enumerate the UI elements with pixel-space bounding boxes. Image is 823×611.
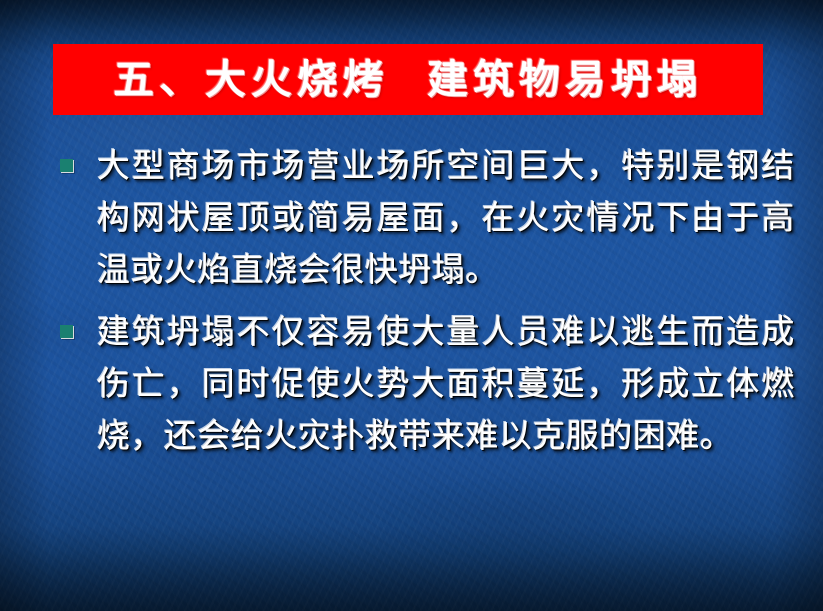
bullet-paragraph: 大型商场市场营业场所空间巨大，特别是钢结构网状屋顶或简易屋面，在火灾情况下由于高…: [55, 140, 795, 296]
square-bullet-icon: [60, 325, 73, 338]
slide-title: 五、大火烧烤 建筑物易坍塌: [113, 60, 702, 100]
slide-body: 大型商场市场营业场所空间巨大，特别是钢结构网状屋顶或简易屋面，在火灾情况下由于高…: [55, 140, 795, 472]
bullet-paragraph-text: 大型商场市场营业场所空间巨大，特别是钢结构网状屋顶或简易屋面，在火灾情况下由于高…: [97, 140, 795, 296]
bullet-paragraph-text: 建筑坍塌不仅容易使大量人员难以逃生而造成伤亡，同时促使火势大面积蔓延，形成立体燃…: [97, 306, 795, 462]
square-bullet-icon: [60, 159, 73, 172]
title-banner: 五、大火烧烤 建筑物易坍塌: [53, 44, 763, 115]
presentation-slide: 五、大火烧烤 建筑物易坍塌 大型商场市场营业场所空间巨大，特别是钢结构网状屋顶或…: [0, 0, 823, 611]
bullet-paragraph: 建筑坍塌不仅容易使大量人员难以逃生而造成伤亡，同时促使火势大面积蔓延，形成立体燃…: [55, 306, 795, 462]
